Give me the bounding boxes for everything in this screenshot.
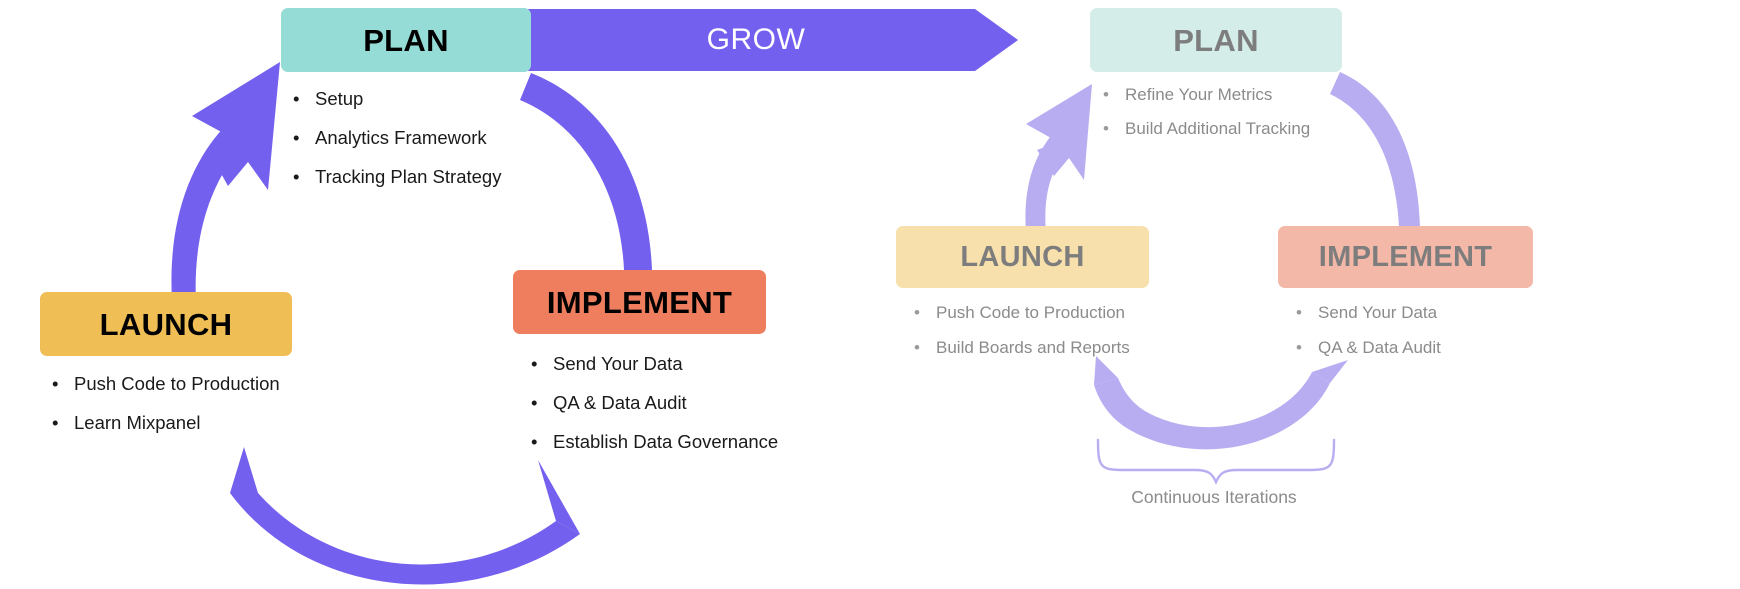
list-item: • Push Code to Production (52, 372, 440, 397)
list-item: • Push Code to Production (914, 302, 1296, 325)
bullet-icon: • (1103, 84, 1125, 107)
bullet-icon: • (293, 87, 315, 112)
continuous-iterations-brace (1098, 440, 1334, 482)
list-item: • Build Additional Tracking (1103, 118, 1510, 141)
list-item-label: Push Code to Production (74, 372, 280, 397)
list-item-label: Build Boards and Reports (936, 337, 1130, 360)
diagram-canvas: GROW PLAN • Setup • Analytics Framework … (0, 0, 1740, 589)
stage-implement-faded-list: • Send Your Data • QA & Data Audit (1296, 302, 1678, 360)
list-item: • Setup (293, 87, 711, 112)
stage-plan-active-header: PLAN (281, 8, 531, 72)
bullet-icon: • (531, 391, 553, 416)
list-item: • Establish Data Governance (531, 430, 933, 455)
stage-launch-active-header: LAUNCH (40, 292, 292, 356)
bullet-icon: • (914, 337, 936, 360)
list-item-label: Refine Your Metrics (1125, 84, 1272, 107)
stage-implement-active-list: • Send Your Data • QA & Data Audit • Est… (531, 352, 933, 455)
arrow-launch-to-plan-faded (1025, 84, 1092, 233)
arrow-launch-to-plan-active (171, 62, 280, 302)
list-item: • Refine Your Metrics (1103, 84, 1510, 107)
list-item: • Learn Mixpanel (52, 411, 440, 436)
grow-banner-label: GROW (707, 23, 806, 57)
list-item-label: Setup (315, 87, 363, 112)
list-item: • Analytics Framework (293, 126, 711, 151)
list-item: • Tracking Plan Strategy (293, 165, 711, 190)
bullet-icon: • (914, 302, 936, 325)
list-item-label: Learn Mixpanel (74, 411, 201, 436)
bullet-icon: • (293, 126, 315, 151)
stage-plan-faded[interactable]: PLAN • Refine Your Metrics • Build Addit… (1090, 8, 1510, 152)
stage-launch-active[interactable]: LAUNCH • Push Code to Production • Learn… (40, 292, 440, 450)
list-item-label: Push Code to Production (936, 302, 1125, 325)
list-item: • QA & Data Audit (531, 391, 933, 416)
bullet-icon: • (1296, 337, 1318, 360)
stage-implement-active-header: IMPLEMENT (513, 270, 766, 334)
stage-implement-active[interactable]: IMPLEMENT • Send Your Data • QA & Data A… (513, 270, 933, 469)
bullet-icon: • (531, 352, 553, 377)
list-item: • Build Boards and Reports (914, 337, 1296, 360)
stage-launch-faded-list: • Push Code to Production • Build Boards… (914, 302, 1296, 360)
list-item-label: Send Your Data (553, 352, 683, 377)
bullet-icon: • (1296, 302, 1318, 325)
stage-launch-active-list: • Push Code to Production • Learn Mixpan… (52, 372, 440, 436)
bullet-icon: • (52, 411, 74, 436)
list-item-label: Send Your Data (1318, 302, 1437, 325)
continuous-iterations-label: Continuous Iterations (1064, 487, 1364, 508)
stage-plan-faded-header: PLAN (1090, 8, 1342, 72)
stage-plan-active-list: • Setup • Analytics Framework • Tracking… (293, 87, 711, 190)
bullet-icon: • (1103, 118, 1125, 141)
list-item-label: Analytics Framework (315, 126, 487, 151)
stage-launch-faded-header: LAUNCH (896, 226, 1149, 288)
stage-implement-faded-header: IMPLEMENT (1278, 226, 1533, 288)
stage-plan-faded-list: • Refine Your Metrics • Build Additional… (1103, 84, 1510, 141)
list-item: • QA & Data Audit (1296, 337, 1678, 360)
bullet-icon: • (531, 430, 553, 455)
list-item-label: QA & Data Audit (1318, 337, 1441, 360)
list-item-label: QA & Data Audit (553, 391, 687, 416)
stage-implement-faded[interactable]: IMPLEMENT • Send Your Data • QA & Data A… (1278, 226, 1678, 372)
stage-launch-faded[interactable]: LAUNCH • Push Code to Production • Build… (896, 226, 1296, 372)
bullet-icon: • (52, 372, 74, 397)
list-item-label: Tracking Plan Strategy (315, 165, 501, 190)
list-item-label: Build Additional Tracking (1125, 118, 1310, 141)
stage-plan-active[interactable]: PLAN • Setup • Analytics Framework • Tra… (281, 8, 711, 204)
list-item: • Send Your Data (531, 352, 933, 377)
list-item: • Send Your Data (1296, 302, 1678, 325)
bullet-icon: • (293, 165, 315, 190)
list-item-label: Establish Data Governance (553, 430, 778, 455)
